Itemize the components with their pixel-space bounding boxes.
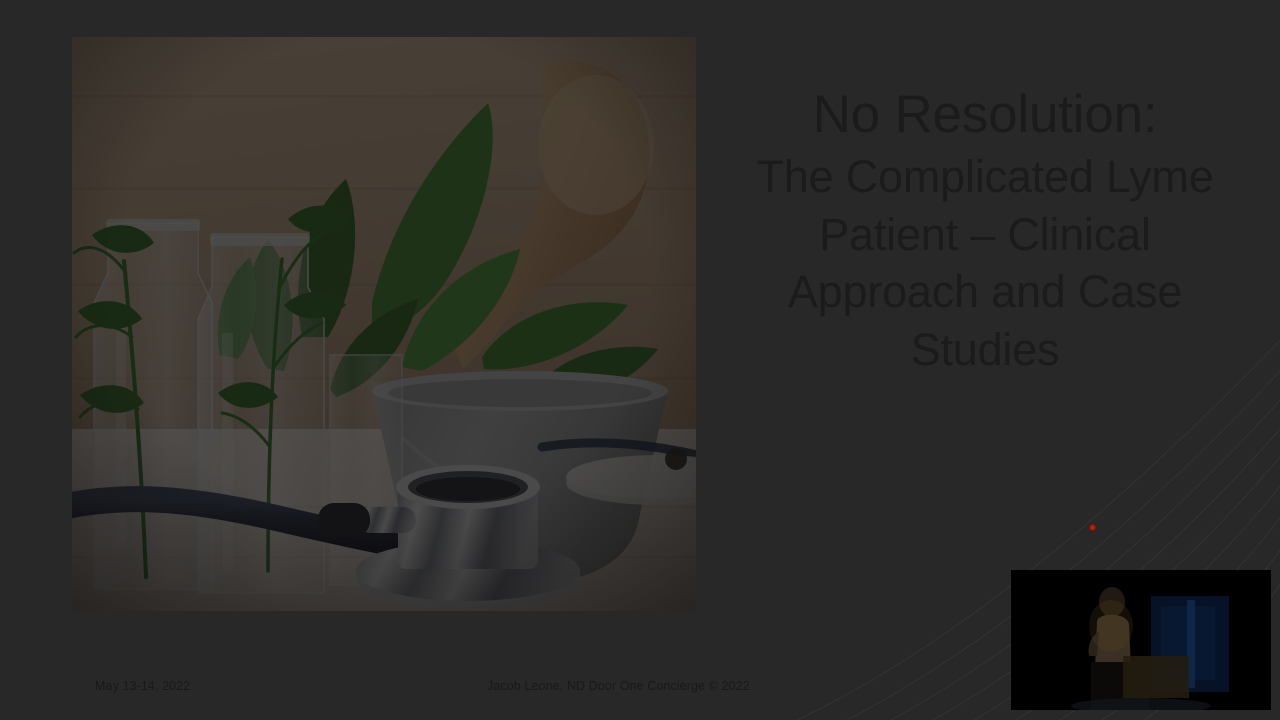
title-line-5: Studies (720, 321, 1250, 379)
title-line-4: Approach and Case (720, 263, 1250, 321)
title-line-3: Patient – Clinical (720, 206, 1250, 264)
page-title: No Resolution: The Complicated Lyme Pati… (720, 88, 1250, 378)
title-line-2: The Complicated Lyme (720, 148, 1250, 206)
slide-photo (72, 37, 696, 611)
footer-credit: Jacob Leone, ND Door One Concierge © 202… (487, 679, 750, 693)
footer-date: May 13-14, 2022 (95, 679, 190, 693)
laser-pointer-dot (1088, 523, 1097, 532)
presentation-slide: No Resolution: The Complicated Lyme Pati… (0, 0, 1280, 720)
speaker-camera-feed[interactable] (1011, 570, 1271, 710)
title-line-primary: No Resolution: (720, 88, 1250, 148)
